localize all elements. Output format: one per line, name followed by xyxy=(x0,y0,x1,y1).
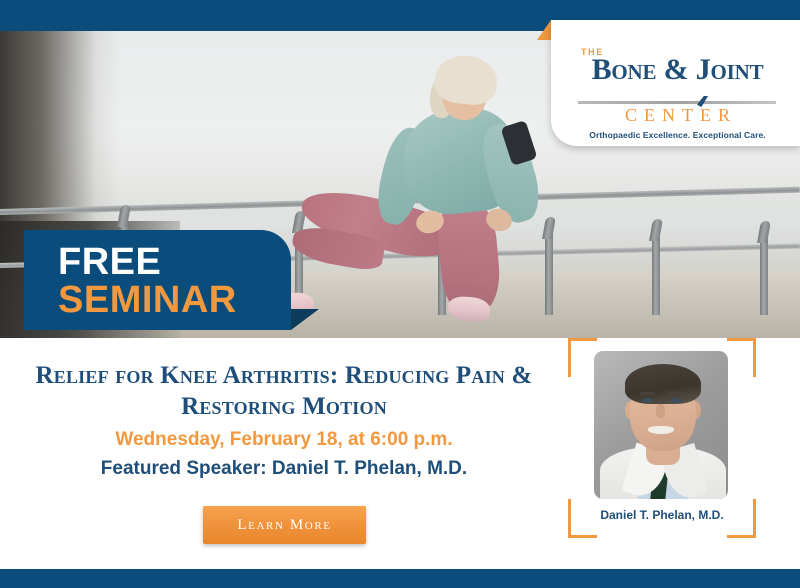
banner-corner-notch xyxy=(291,309,319,330)
doctor-mouth xyxy=(648,426,674,434)
logo-name-text: Bone & Joint xyxy=(575,53,780,87)
logo-card-fold-accent xyxy=(537,20,551,40)
doctor-headshot xyxy=(594,351,728,499)
bottom-navy-bar xyxy=(0,569,800,588)
logo-center-text: CENTER xyxy=(575,105,780,126)
railing-post xyxy=(545,233,553,315)
doctor-caption: Daniel T. Phelan, M.D. xyxy=(568,508,756,522)
doctor-eye-right xyxy=(671,398,682,403)
doctor-eye-left xyxy=(642,398,653,403)
event-speaker: Featured Speaker: Daniel T. Phelan, M.D. xyxy=(10,458,558,480)
doctor-eyebrow-left xyxy=(640,392,655,395)
seminar-ad: THE Bone & Joint CENTER Orthopaedic Exce… xyxy=(0,0,800,588)
bracket-top-right-icon xyxy=(727,338,756,377)
doctor-nose xyxy=(656,404,665,418)
bracket-top-left-icon xyxy=(568,338,597,377)
banner-free-text: FREE xyxy=(58,242,161,282)
railing-post xyxy=(652,235,660,315)
event-date: Wednesday, February 18, at 6:00 p.m. xyxy=(10,429,558,451)
railing-post xyxy=(760,237,768,315)
brand-logo-card[interactable]: THE Bone & Joint CENTER Orthopaedic Exce… xyxy=(551,20,800,146)
doctor-photo-block: Daniel T. Phelan, M.D. xyxy=(568,338,756,538)
banner-seminar-text: SEMINAR xyxy=(58,280,237,320)
doctor-eyebrow-right xyxy=(669,392,684,395)
logo-tagline: Orthopaedic Excellence. Exceptional Care… xyxy=(575,130,780,140)
free-seminar-banner: FREE SEMINAR xyxy=(24,230,291,330)
learn-more-button[interactable]: Learn More xyxy=(203,506,366,544)
doctor-hair xyxy=(625,364,701,404)
event-headline: Relief for Knee Arthritis: Reducing Pain… xyxy=(10,360,558,422)
logo-divider-rule xyxy=(578,101,776,104)
